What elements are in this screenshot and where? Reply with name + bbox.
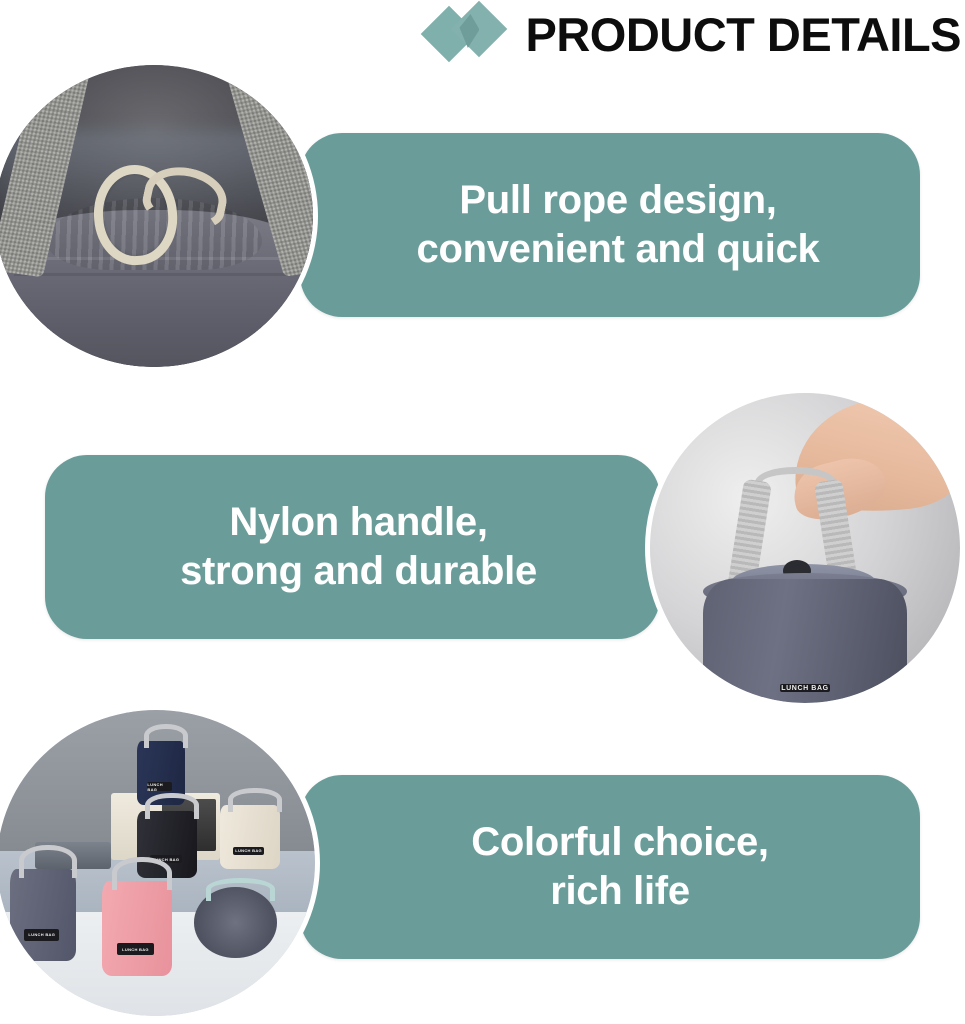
- lunch-bag-gray: LUNCH BAG: [10, 869, 77, 961]
- bag-brand-label: LUNCH BAG: [24, 929, 59, 941]
- feature-photo-nylon-handle: LUNCH BAG: [645, 388, 965, 708]
- photo-clip: LUNCH BAG LUNCH BAG LUNCH BAG LUNCH BAG: [0, 710, 315, 1016]
- feature-banner-colorful-choice: Colorful choice, rich life: [300, 775, 920, 959]
- bag-brand-label-text: LUNCH BAG: [117, 943, 153, 955]
- feature-photo-colorful-choice: LUNCH BAG LUNCH BAG LUNCH BAG LUNCH BAG: [0, 705, 320, 1021]
- bag-brand-label-text: LUNCH BAG: [233, 847, 264, 855]
- feature-banner-nylon-handle: Nylon handle, strong and durable: [45, 455, 660, 639]
- product-details-page: PRODUCT DETAILS Pull rope design, conven…: [0, 0, 965, 1024]
- lunch-bag-beige: LUNCH BAG: [220, 805, 280, 869]
- bag-brand-label-text: LUNCH BAG: [781, 685, 828, 692]
- bag-brand-label: LUNCH BAG: [117, 943, 153, 955]
- bag-brand-label-text: LUNCH BAG: [24, 929, 59, 941]
- feature-banner-text: Nylon handle, strong and durable: [162, 498, 555, 596]
- lunch-bag-pink: LUNCH BAG: [102, 881, 172, 976]
- photo-clip: LUNCH BAG: [650, 393, 960, 703]
- bag-body: LUNCH BAG: [703, 579, 908, 703]
- photo-clip: [0, 65, 313, 367]
- page-header: PRODUCT DETAILS: [0, 0, 965, 68]
- feature-banner-text: Colorful choice, rich life: [453, 818, 786, 916]
- bag-brand-label: LUNCH BAG: [233, 847, 264, 855]
- two-diamonds-icon: [423, 5, 515, 63]
- feature-banner-pull-rope: Pull rope design, convenient and quick: [300, 133, 920, 317]
- lunch-bag-mint-top-view: [194, 887, 277, 957]
- bag-brand-label: LUNCH BAG: [780, 684, 829, 692]
- bag-brand-label: LUNCH BAG: [147, 782, 172, 790]
- feature-banner-text: Pull rope design, convenient and quick: [399, 176, 838, 274]
- bag-brand-label-text: LUNCH BAG: [147, 782, 172, 790]
- page-title: PRODUCT DETAILS: [525, 11, 961, 58]
- feature-photo-pull-rope: [0, 60, 318, 372]
